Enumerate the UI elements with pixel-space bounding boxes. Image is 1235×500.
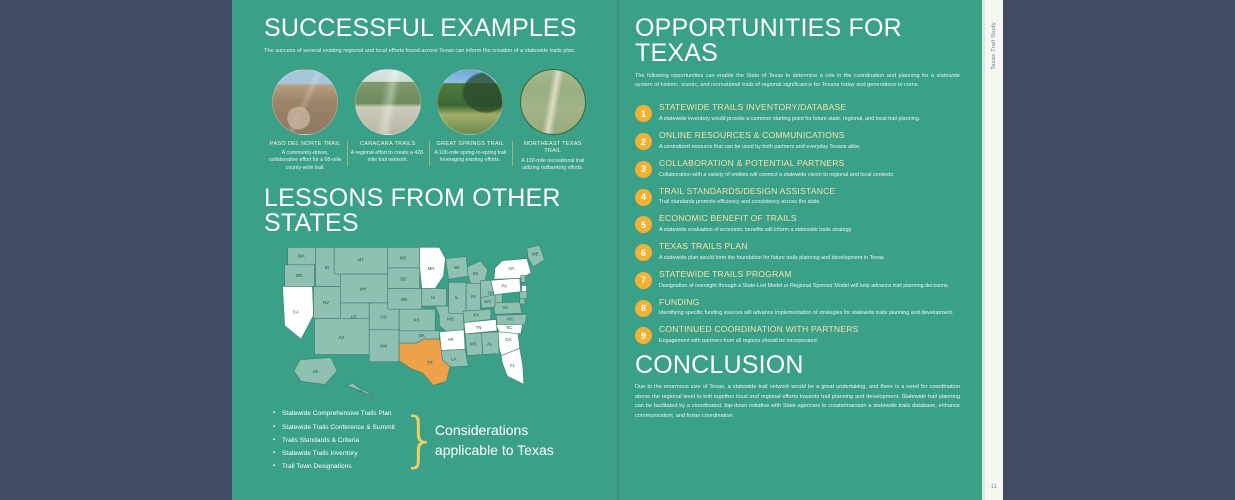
right-page: OPPORTUNITIES FOR TEXAS The following op…: [617, 0, 985, 500]
example-card-description: A 100-mile spring-to-spring trail levera…: [432, 150, 509, 165]
opportunity-title: ONLINE RESOURCES & COMMUNICATIONS: [659, 131, 960, 141]
opportunity-description: Designation of oversight through a State…: [659, 282, 960, 290]
opportunity-description: A statewide evaluation of economic benef…: [659, 226, 960, 234]
opportunity-description: A statewide inventory would provide a co…: [659, 115, 960, 123]
svg-text:IL: IL: [455, 295, 459, 300]
opportunity-number-badge: 1: [635, 105, 652, 122]
example-card-title: NORTHEAST TEXAS TRAIL: [515, 141, 592, 156]
svg-text:TN: TN: [476, 325, 482, 330]
opportunities-subtitle: The following opportunities can enable t…: [635, 72, 960, 89]
svg-text:ND: ND: [400, 256, 406, 261]
opportunity-description: A statewide plan would form the foundati…: [659, 254, 960, 262]
opportunity-number-badge: 5: [635, 216, 652, 233]
svg-text:AZ: AZ: [339, 335, 345, 340]
svg-text:AR: AR: [448, 337, 454, 342]
example-card[interactable]: CARACARA TRAILS A regional effort to cre…: [347, 69, 430, 173]
page-gutter: [617, 0, 619, 500]
example-card[interactable]: PASO DEL NORTE TRAIL A community-driven,…: [264, 69, 347, 173]
opportunity-item[interactable]: 3 COLLABORATION & POTENTIAL PARTNERS Col…: [635, 159, 960, 179]
svg-text:SC: SC: [506, 325, 512, 330]
opportunity-title: TEXAS TRAILS PLAN: [659, 242, 960, 252]
svg-text:TX: TX: [427, 360, 433, 365]
opportunity-item[interactable]: 8 FUNDING Identifying specific funding s…: [635, 298, 960, 318]
considerations-bullet-list: Statewide Comprehensive Trails Plan Stat…: [264, 407, 405, 473]
list-item: Statewide Trails Conference & Summit: [282, 421, 405, 434]
successful-examples-subtitle: The success of several existing regional…: [264, 47, 594, 56]
opportunity-number-badge: 6: [635, 244, 652, 261]
svg-text:WV: WV: [484, 299, 491, 304]
paso-del-norte-trail-photo: [272, 69, 338, 135]
svg-text:IA: IA: [431, 295, 435, 300]
list-item: Trails Standards & Criteria: [282, 434, 405, 447]
svg-text:AL: AL: [487, 342, 493, 347]
great-springs-trail-photo: [437, 69, 503, 135]
svg-text:NM: NM: [380, 344, 387, 349]
svg-text:HI: HI: [358, 390, 362, 394]
svg-text:ID: ID: [325, 265, 329, 270]
opportunity-description: A centralized resource that can be used …: [659, 143, 960, 151]
side-tab-label: Texas Trail Study: [991, 22, 997, 70]
svg-text:GA: GA: [505, 337, 511, 342]
example-card[interactable]: NORTHEAST TEXAS TRAIL A 130-mile recreat…: [512, 69, 595, 173]
opportunity-title: STATEWIDE TRAILS PROGRAM: [659, 270, 960, 280]
considerations-label: Considerations applicable to Texas: [435, 420, 594, 461]
state-NJ: [521, 275, 526, 282]
svg-text:CA: CA: [293, 310, 299, 315]
successful-examples-heading: SUCCESSFUL EXAMPLES: [264, 16, 594, 41]
state-MD: [520, 292, 527, 299]
svg-text:VA: VA: [503, 305, 509, 310]
svg-text:MI: MI: [473, 271, 478, 276]
svg-text:NY: NY: [508, 266, 514, 271]
conclusion-body: Due to the enormous size of Texas, a sta…: [635, 383, 960, 421]
svg-text:PA: PA: [502, 284, 508, 289]
document-spread: SUCCESSFUL EXAMPLES The success of sever…: [232, 0, 1003, 500]
opportunity-number-badge: 8: [635, 300, 652, 317]
example-cards: PASO DEL NORTE TRAIL A community-driven,…: [264, 69, 594, 173]
svg-text:NC: NC: [507, 317, 513, 322]
svg-text:ME: ME: [532, 252, 539, 257]
opportunity-number-badge: 7: [635, 272, 652, 289]
opportunity-description: Engagement with partners from all region…: [659, 337, 960, 345]
left-page-content: SUCCESSFUL EXAMPLES The success of sever…: [264, 16, 594, 473]
svg-text:WA: WA: [298, 254, 305, 259]
list-item: Statewide Trails Inventory: [282, 447, 405, 460]
opportunity-title: FUNDING: [659, 298, 960, 308]
example-card-title: CARACARA TRAILS: [350, 141, 427, 149]
example-card-description: A 130-mile recreational trail utilizing …: [515, 158, 592, 173]
state-DE: [522, 286, 527, 292]
svg-text:KS: KS: [414, 318, 420, 323]
svg-text:OH: OH: [488, 291, 495, 296]
opportunity-number-badge: 9: [635, 327, 652, 344]
conclusion-heading: CONCLUSION: [635, 353, 960, 378]
side-tab[interactable]: Texas Trail Study 11: [985, 0, 1003, 500]
example-card-description: A community-driven, collaborative effort…: [267, 150, 344, 172]
opportunity-number-badge: 3: [635, 161, 652, 178]
lessons-heading: LESSONS FROM OTHER STATES: [264, 186, 594, 236]
left-page: SUCCESSFUL EXAMPLES The success of sever…: [232, 0, 617, 500]
svg-text:WY: WY: [359, 287, 366, 292]
us-states-map: WAOR CANV IDMT WYUT AZCO NMND SDNE KSOK …: [264, 238, 594, 403]
opportunity-description: Collaboration with a variety of entities…: [659, 171, 960, 179]
side-tab-page-number: 11: [985, 484, 1003, 490]
caracara-trails-photo: [355, 69, 421, 135]
svg-text:MT: MT: [358, 258, 365, 263]
example-card[interactable]: GREAT SPRINGS TRAIL A 100-mile spring-to…: [429, 69, 512, 173]
state-DC: [520, 299, 525, 304]
opportunity-title: ECONOMIC BENEFIT OF TRAILS: [659, 214, 960, 224]
svg-text:MS: MS: [470, 342, 477, 347]
opportunity-number-badge: 2: [635, 133, 652, 150]
svg-text:KY: KY: [474, 313, 480, 318]
svg-text:LA: LA: [451, 357, 456, 362]
list-item: Statewide Comprehensive Trails Plan: [282, 407, 405, 420]
curly-brace-icon: }: [409, 409, 431, 471]
opportunities-list: 1 STATEWIDE TRAILS INVENTORY/DATABASE A …: [635, 103, 960, 345]
opportunity-description: Trail standards promote efficiency and c…: [659, 198, 960, 206]
svg-text:OR: OR: [296, 274, 303, 279]
example-card-title: GREAT SPRINGS TRAIL: [432, 141, 509, 149]
opportunity-item[interactable]: 2 ONLINE RESOURCES & COMMUNICATIONS A ce…: [635, 131, 960, 151]
us-map-svg: WAOR CANV IDMT WYUT AZCO NMND SDNE KSOK …: [264, 238, 594, 403]
list-item: Trail Town Designations: [282, 460, 405, 473]
opportunity-description: Identifying specific funding sources wil…: [659, 309, 960, 317]
svg-text:NE: NE: [401, 297, 407, 302]
svg-text:CO: CO: [380, 315, 387, 320]
opportunity-item[interactable]: 5 ECONOMIC BENEFIT OF TRAILS A statewide…: [635, 214, 960, 234]
svg-text:UT: UT: [351, 315, 357, 320]
opportunity-item[interactable]: 4 TRAIL STANDARDS/DESIGN ASSISTANCE Trai…: [635, 187, 960, 207]
northeast-texas-trail-photo: [520, 69, 586, 135]
opportunity-item[interactable]: 6 TEXAS TRAILS PLAN A statewide plan wou…: [635, 242, 960, 262]
right-page-content: OPPORTUNITIES FOR TEXAS The following op…: [635, 16, 960, 422]
screenshot-root: SUCCESSFUL EXAMPLES The success of sever…: [0, 0, 1235, 500]
svg-text:MN: MN: [428, 266, 435, 271]
example-card-title: PASO DEL NORTE TRAIL: [267, 141, 344, 149]
opportunity-item[interactable]: 1 STATEWIDE TRAILS INVENTORY/DATABASE A …: [635, 103, 960, 123]
considerations-row: Statewide Comprehensive Trails Plan Stat…: [264, 407, 594, 473]
opportunity-title: STATEWIDE TRAILS INVENTORY/DATABASE: [659, 103, 960, 113]
svg-text:FL: FL: [510, 363, 516, 368]
example-card-description: A regional effort to create a 428-mile t…: [350, 150, 427, 165]
opportunity-item[interactable]: 7 STATEWIDE TRAILS PROGRAM Designation o…: [635, 270, 960, 290]
opportunity-item[interactable]: 9 CONTINUED COORDINATION WITH PARTNERS E…: [635, 325, 960, 345]
svg-text:MO: MO: [447, 317, 455, 322]
svg-text:SD: SD: [400, 277, 406, 282]
svg-text:NV: NV: [323, 300, 329, 305]
opportunities-heading: OPPORTUNITIES FOR TEXAS: [635, 16, 960, 66]
opportunity-title: CONTINUED COORDINATION WITH PARTNERS: [659, 325, 960, 335]
opportunity-title: TRAIL STANDARDS/DESIGN ASSISTANCE: [659, 187, 960, 197]
opportunity-title: COLLABORATION & POTENTIAL PARTNERS: [659, 159, 960, 169]
svg-text:IN: IN: [471, 294, 475, 299]
svg-text:WI: WI: [454, 265, 459, 270]
opportunity-number-badge: 4: [635, 189, 652, 206]
svg-text:AK: AK: [313, 369, 319, 374]
svg-text:OK: OK: [419, 333, 425, 338]
